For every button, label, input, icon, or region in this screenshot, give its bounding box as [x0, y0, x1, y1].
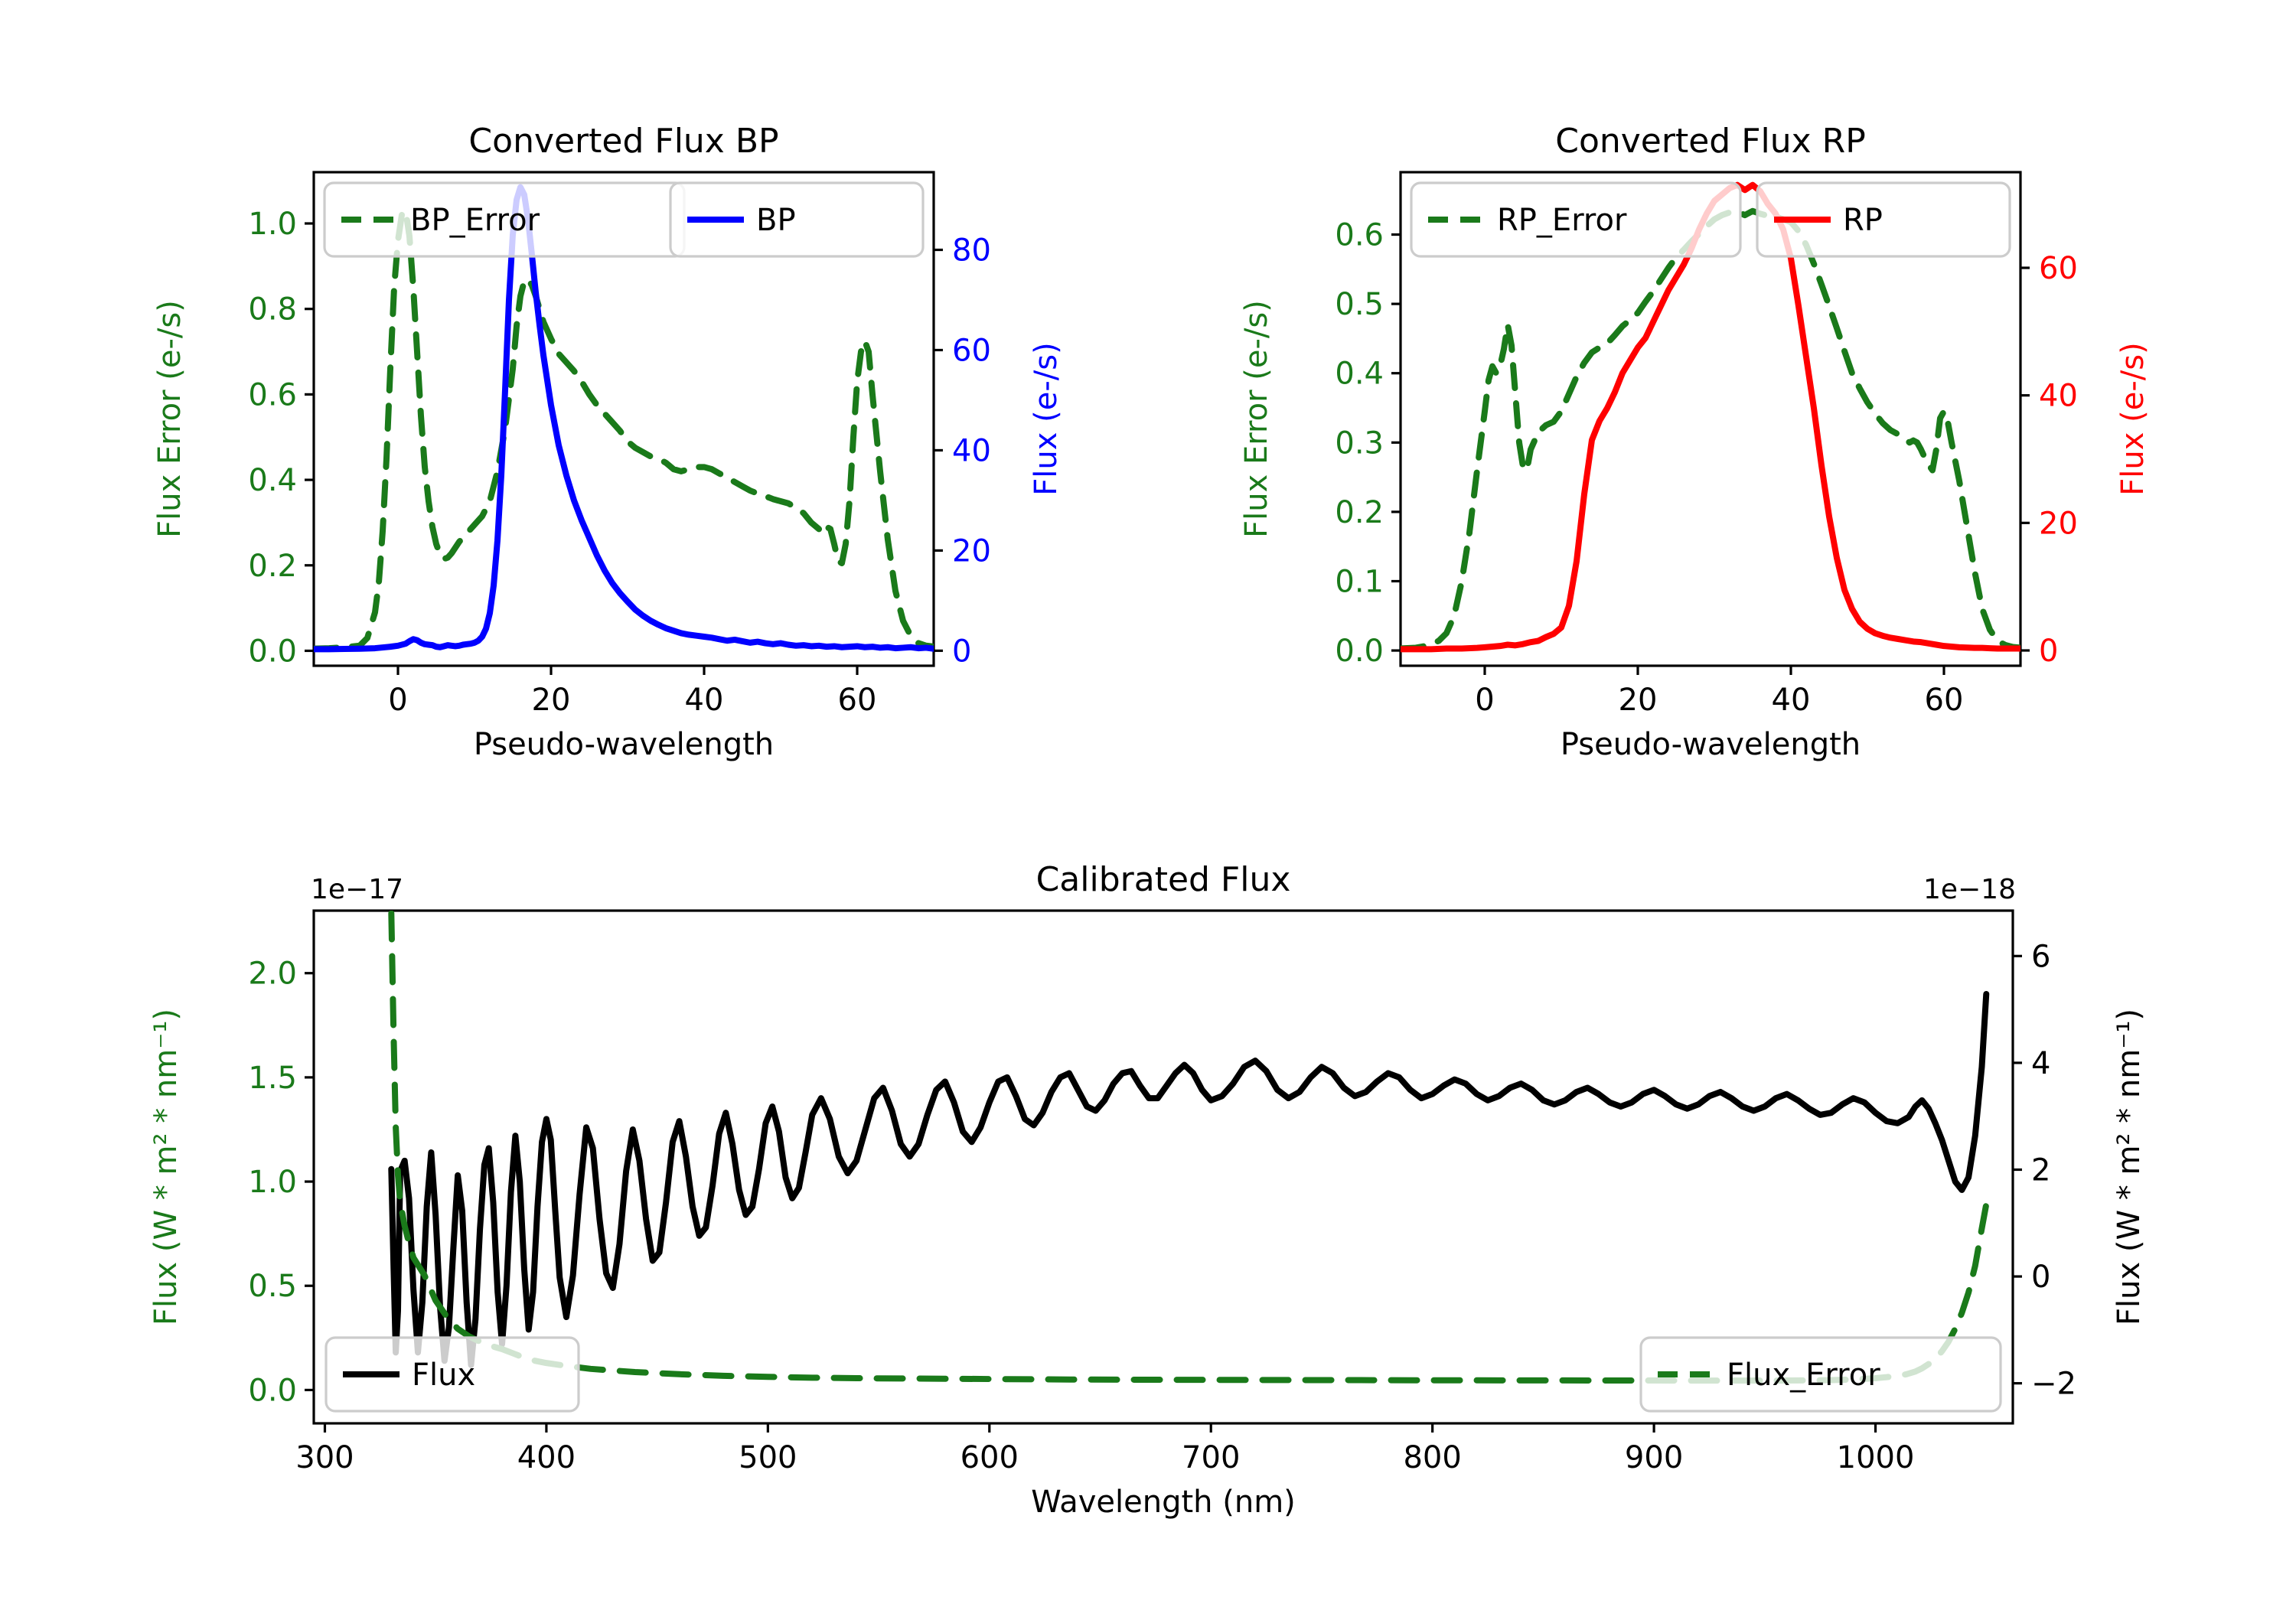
x-axis-label: Wavelength (nm)	[1031, 1485, 1296, 1520]
chart-panel-calibrated-flux: Calibrated Flux1e−171e−18300400500600700…	[115, 849, 2212, 1584]
chart-panel-converted-flux-bp: Converted Flux BP0204060Pseudo-wavelengt…	[115, 115, 1125, 819]
x-tick-label: 0	[1475, 683, 1494, 718]
chart-title: Converted Flux BP	[468, 122, 778, 161]
x-axis: 3004005006007008009001000	[295, 1423, 1914, 1475]
x-axis-label: Pseudo-wavelength	[474, 727, 774, 762]
chart-panel-converted-flux-rp: Converted Flux RP0204060Pseudo-wavelengt…	[1202, 115, 2212, 819]
y2-tick-label: 0	[952, 634, 971, 669]
x-tick-label: 60	[838, 683, 877, 718]
x-tick-label: 500	[739, 1440, 797, 1475]
y2-tick-label: 4	[2031, 1046, 2050, 1081]
y-tick-label: 0.0	[1335, 634, 1384, 669]
legend-bp_error[interactable]: BP_Error	[325, 183, 684, 256]
y-tick-label: 2.0	[248, 957, 297, 992]
y2-tick-label: 0	[2039, 634, 2058, 669]
legend-flux[interactable]: Flux	[326, 1338, 579, 1411]
legend-label: RP_Error	[1497, 203, 1627, 238]
x-axis: 0204060	[388, 666, 876, 718]
y2-axis-offset-label: 1e−18	[1923, 874, 2016, 905]
y-tick-label: 1.0	[248, 207, 297, 242]
x-tick-label: 40	[1772, 683, 1811, 718]
y-tick-label: 0.6	[248, 377, 297, 412]
x-axis: 0204060	[1475, 666, 1963, 718]
y-tick-label: 0.6	[1335, 218, 1384, 253]
x-tick-label: 700	[1182, 1440, 1240, 1475]
legend-label: Flux	[412, 1358, 475, 1393]
y-tick-label: 0.4	[1335, 357, 1384, 392]
x-axis-label: Pseudo-wavelength	[1561, 727, 1861, 762]
series-line-bp_error	[314, 210, 934, 648]
legend-rp[interactable]: RP	[1757, 183, 2010, 256]
y-tick-label: 0.2	[248, 549, 297, 584]
y-tick-label: 0.4	[248, 463, 297, 498]
legend-rp_error[interactable]: RP_Error	[1411, 183, 1740, 256]
y-axis-label: Flux Error (e-/s)	[1239, 300, 1274, 538]
y2-tick-label: −2	[2031, 1367, 2076, 1402]
series-line-flux	[391, 994, 1986, 1365]
y2-tick-label: 0	[2031, 1260, 2050, 1295]
y2-tick-label: 40	[952, 433, 991, 468]
legend-label: Flux_Error	[1727, 1358, 1880, 1393]
x-tick-label: 1000	[1837, 1440, 1915, 1475]
x-tick-label: 600	[960, 1440, 1019, 1475]
y2-axis-label: Flux (e-/s)	[1029, 342, 1064, 495]
y-tick-label: 1.0	[248, 1165, 297, 1200]
y-axis-label: Flux Error (e-/s)	[152, 300, 188, 538]
y-axis-right: −20246	[2013, 939, 2076, 1401]
y-axis-left: 0.00.10.20.30.40.50.6	[1335, 218, 1401, 670]
y2-axis-label: Flux (W * m² * nm⁻¹)	[2112, 1009, 2147, 1325]
x-tick-label: 800	[1403, 1440, 1461, 1475]
y2-tick-label: 6	[2031, 939, 2050, 974]
x-tick-label: 300	[295, 1440, 354, 1475]
y2-tick-label: 20	[2039, 506, 2078, 541]
series-line-rp_error	[1401, 211, 2020, 649]
y2-axis-label: Flux (e-/s)	[2115, 342, 2151, 495]
x-tick-label: 0	[388, 683, 407, 718]
y-tick-label: 0.8	[248, 292, 297, 328]
y-tick-label: 0.2	[1335, 495, 1384, 530]
y-tick-label: 0.1	[1335, 564, 1384, 599]
y-axis-left: 0.00.51.01.52.0	[248, 957, 314, 1409]
y-tick-label: 0.0	[248, 634, 297, 669]
x-tick-label: 900	[1625, 1440, 1683, 1475]
x-tick-label: 40	[685, 683, 724, 718]
figure-canvas: Converted Flux BP0204060Pseudo-wavelengt…	[0, 0, 2296, 1607]
y-tick-label: 0.0	[248, 1373, 297, 1408]
y-tick-label: 1.5	[248, 1061, 297, 1096]
y2-tick-label: 20	[952, 533, 991, 569]
legend-label: BP_Error	[410, 203, 540, 238]
x-tick-label: 20	[532, 683, 571, 718]
y2-tick-label: 60	[2039, 251, 2078, 286]
y-axis-right: 0204060	[2020, 251, 2078, 669]
x-tick-label: 400	[517, 1440, 576, 1475]
legend-label: RP	[1843, 203, 1883, 238]
y-axis-right: 020406080	[934, 233, 991, 669]
y2-tick-label: 80	[952, 233, 991, 268]
y2-tick-label: 2	[2031, 1152, 2050, 1188]
legend-label: BP	[756, 203, 796, 238]
y-axis-left: 0.00.20.40.60.81.0	[248, 207, 314, 669]
y-tick-label: 0.5	[248, 1269, 297, 1304]
y2-tick-label: 60	[952, 333, 991, 368]
y-tick-label: 0.5	[1335, 287, 1384, 322]
legend-flux_error[interactable]: Flux_Error	[1641, 1338, 2001, 1411]
y-tick-label: 0.3	[1335, 425, 1384, 461]
y-axis-offset-label: 1e−17	[311, 874, 403, 905]
x-tick-label: 60	[1925, 683, 1964, 718]
y-axis-label: Flux (W * m² * nm⁻¹)	[148, 1009, 184, 1325]
x-tick-label: 20	[1619, 683, 1658, 718]
y2-tick-label: 40	[2039, 379, 2078, 414]
legend-bp[interactable]: BP	[670, 183, 923, 256]
chart-title: Converted Flux RP	[1555, 122, 1866, 161]
chart-title: Calibrated Flux	[1036, 860, 1291, 899]
